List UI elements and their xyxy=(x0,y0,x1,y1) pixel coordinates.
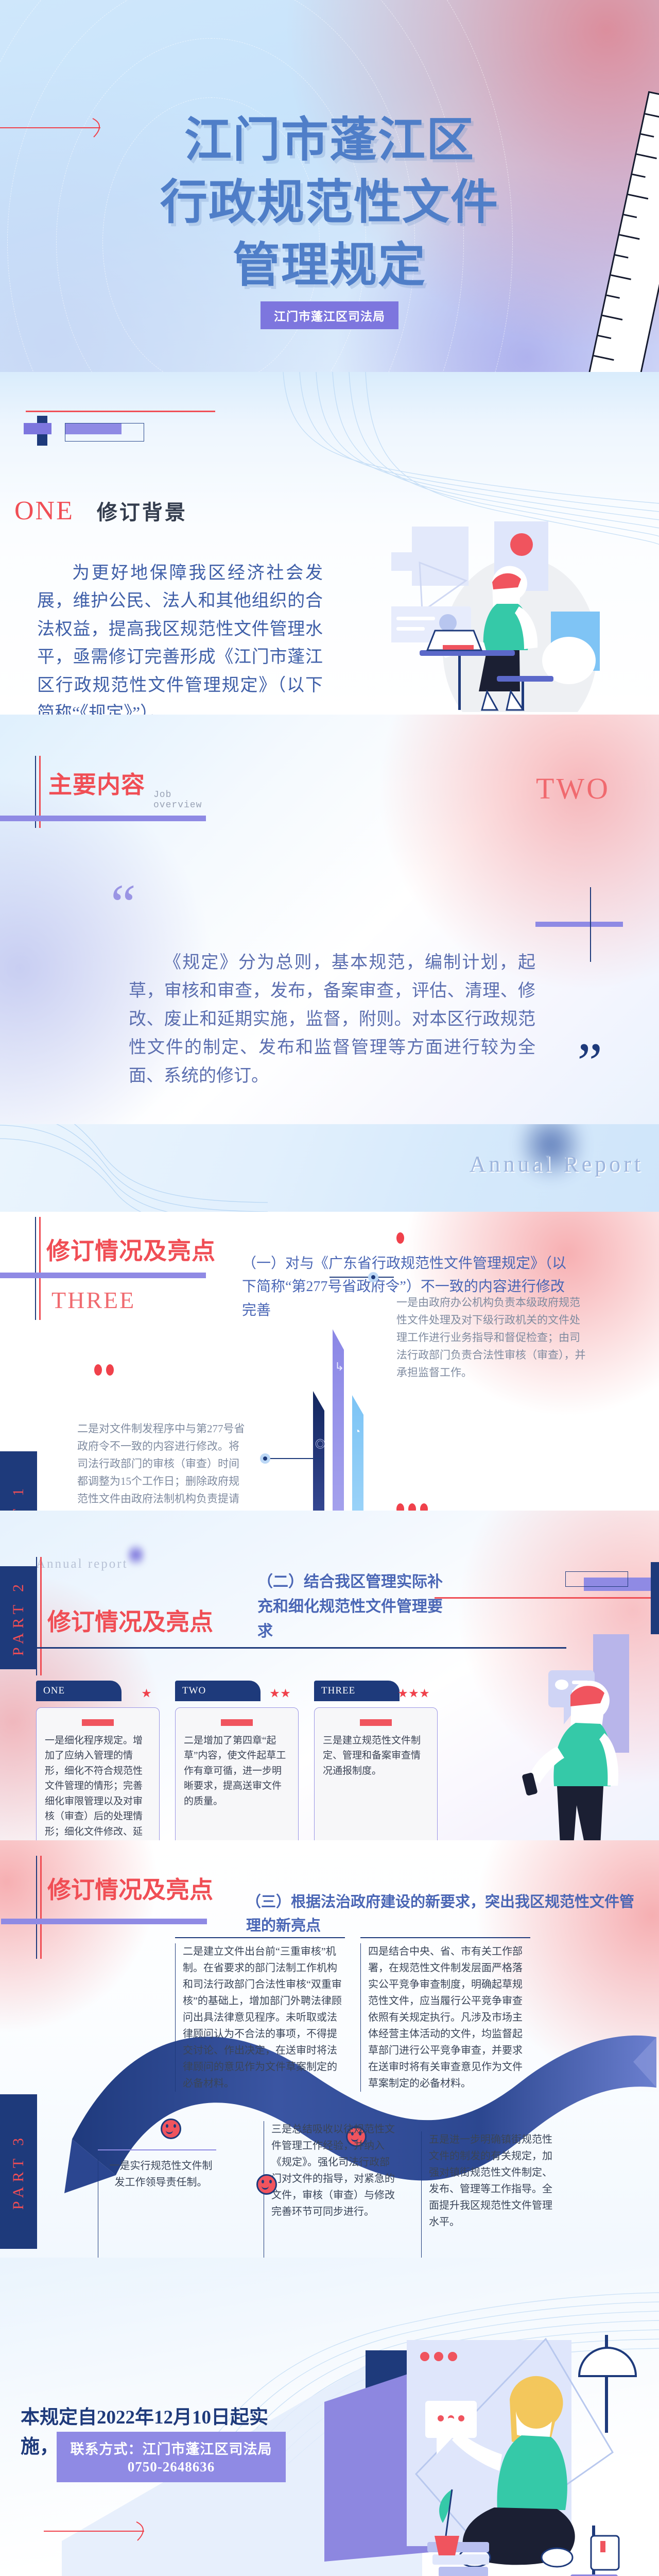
card-three-mark xyxy=(360,1719,392,1726)
part-one-item-right-1: 一是由政府办公机构负责本级政府规范性文件处理及对下级行政机关的文件处理工作进行业… xyxy=(396,1294,587,1381)
person-at-desk-illustration xyxy=(391,521,638,712)
part-tab-2-label: PART 2 xyxy=(10,1580,27,1656)
section-one-title: 修订背景 xyxy=(97,496,187,526)
footer-contact-box: 联系方式：江门市蓬江区司法局 0750-2648636 xyxy=(57,2432,286,2482)
section-four-heading: 修订情况及亮点 xyxy=(32,1603,213,1637)
section-four-title: 修订情况及亮点 xyxy=(47,1608,213,1635)
section-two-number: TWO xyxy=(536,771,610,806)
section-four: Annual report 修订情况及亮点 （二）结合我区管理实际补充和细化规范… xyxy=(0,1511,659,1840)
card-one-label: ONE xyxy=(43,1685,65,1697)
section-five-item-4-text: 四是结合中央、省、市有关工作部署，在规范性文件制发层面严格落实公平竞争审查制度，… xyxy=(360,1943,530,2092)
quote-close-icon: ” xyxy=(577,1043,602,1083)
footer-contact-line2: 0750-2648636 xyxy=(57,2459,286,2475)
connector-line-1 xyxy=(329,1277,394,1278)
hero-title-line-2: 行政规范性文件 xyxy=(0,172,659,234)
card-three-stars: ★★★ xyxy=(398,1686,430,1700)
card-one-mark xyxy=(82,1719,114,1726)
section-four-subtitle: （二）结合我区管理实际补充和细化规范性文件管理要求 xyxy=(257,1570,443,1644)
section-five-heading: 修订情况及亮点 xyxy=(32,1871,213,1905)
section-two: 主要内容 Job overview TWO “ 《规定》分为总则，基本规范，编制… xyxy=(0,715,659,1124)
part-tab-3-label: PART 3 xyxy=(10,2133,27,2210)
svg-text:↳: ↳ xyxy=(335,1360,344,1373)
wave-lines-decoration-2 xyxy=(0,1124,268,1212)
connector-dot-1 xyxy=(368,1272,378,1282)
blur-blob-decoration-2 xyxy=(127,1541,145,1568)
page-title: 江门市蓬江区 行政规范性文件 管理规定 xyxy=(0,109,659,297)
publisher-badge: 江门市蓬江区司法局 xyxy=(261,301,398,329)
part-tab-2: PART 2 xyxy=(0,1566,37,1669)
section-one-number: ONE xyxy=(14,496,74,526)
quote-open-icon: “ xyxy=(111,885,136,924)
card-one-stars: ★ xyxy=(142,1686,152,1700)
annual-report-band: Annual Report xyxy=(0,1124,659,1212)
section-five-item-2: 二是建立文件出台前“三重审核”机制。在省要求的部门法制工作机构和司法行政部门合法… xyxy=(175,1937,345,2092)
card-three-label: THREE xyxy=(321,1685,355,1697)
hero-section: 江门市蓬江区 行政规范性文件 管理规定 江门市蓬江区司法局 xyxy=(0,0,659,372)
person-sitting-illustration xyxy=(324,2319,654,2576)
hero-title-line-3: 管理规定 xyxy=(0,234,659,297)
svg-text:◎: ◎ xyxy=(315,1438,325,1450)
red-arrow-icon-bottom xyxy=(44,2521,172,2541)
smiley-icon-4 xyxy=(161,2119,181,2139)
annual-report-label: Annual Report xyxy=(470,1151,644,1177)
card-three-text: 三是建立规范性文件制定、管理和备案审查情况通报制度。 xyxy=(323,1733,429,1778)
annual-report-small-label: Annual report xyxy=(36,1557,128,1571)
section-two-heading: 主要内容 Job overview xyxy=(31,766,145,800)
card-two-stars: ★★ xyxy=(270,1686,291,1700)
section-two-subtitle-en: Job overview xyxy=(153,790,202,810)
section-two-title: 主要内容 xyxy=(48,771,145,798)
footer-contact-line1: 联系方式：江门市蓬江区司法局 xyxy=(57,2438,286,2458)
section-one-heading: ONE 修订背景 xyxy=(14,496,187,526)
section-five-item-2-text: 二是建立文件出台前“三重审核”机制。在省要求的部门法制工作机构和司法行政部门合法… xyxy=(175,1943,345,2092)
connector-dot-2 xyxy=(260,1453,270,1464)
card-two-text: 二是增加了第四章“起草”内容，使文件起草工作有章可循，进一步明晰要求，提高送审文… xyxy=(184,1733,290,1809)
section-one: ONE 修订背景 为更好地保障我区经济社会发展，维护公民、法人和其他组织的合法权… xyxy=(0,372,659,715)
smiley-icon-7 xyxy=(256,2174,277,2195)
section-five-item-4: 四是结合中央、省、市有关工作部署，在规范性文件制发层面严格落实公平竞争审查制度，… xyxy=(360,1937,530,2092)
section-five-subtitle: （三）根据法治政府建设的新要求，突出我区规范性文件管理的新亮点 xyxy=(246,1890,637,1938)
hero-title-line-1: 江门市蓬江区 xyxy=(0,109,659,172)
red-dots-group-1 xyxy=(396,1232,404,1244)
card-two-label: TWO xyxy=(182,1685,206,1697)
part-tab-3: PART 3 xyxy=(0,2094,37,2249)
part-one-content: ↳ ◎ ◔ 一是由政府办公机构负责本级政府规范性文件处理及对下级行政机关的文件处… xyxy=(0,1200,659,1510)
svg-text:◔: ◔ xyxy=(354,1426,360,1437)
section-one-body: 为更好地保障我区经济社会发展，维护公民、法人和其他组织的合法权益，提高我区规范性… xyxy=(37,560,323,727)
section-five-item-3-text: 三是总结吸收以往规范性文件管理工作经验，并纳入《规定》。强化司法行政部门对文件的… xyxy=(264,2121,395,2276)
section-five: 修订情况及亮点 （三）根据法治政府建设的新要求，突出我区规范性文件管理的新亮点 … xyxy=(0,1840,659,2258)
section-four-divider xyxy=(36,1647,566,1649)
card-two-mark xyxy=(221,1719,253,1726)
section-five-title: 修订情况及亮点 xyxy=(47,1876,213,1903)
connector-line-2 xyxy=(268,1458,324,1459)
section-one-decor-block xyxy=(15,411,170,444)
part-one-item-left: 二是对文件制发程序中与第277号省政府令不一致的内容进行修改。将司法行政部门的审… xyxy=(77,1420,247,1525)
section-two-body: 《规定》分为总则，基本规范，编制计划，起草，审核和审查，发布，备案审查，评估、清… xyxy=(129,948,535,1090)
red-dots-group-2 xyxy=(94,1364,114,1376)
infographic-page: 江门市蓬江区 行政规范性文件 管理规定 江门市蓬江区司法局 ONE 修订背景 xyxy=(0,0,659,2576)
